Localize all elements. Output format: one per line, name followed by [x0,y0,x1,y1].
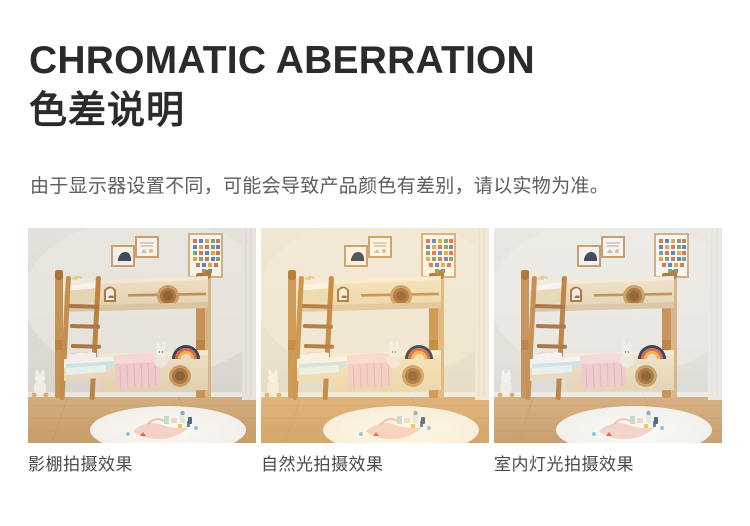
photo-gallery: 影棚拍摄效果 [28,228,722,477]
page-title-chinese: 色差说明 [29,88,729,134]
gallery-item-studio: 影棚拍摄效果 [28,228,256,477]
caption-studio: 影棚拍摄效果 [28,453,256,477]
photo-indoor[interactable] [494,228,722,443]
quote-poster [135,236,159,258]
arched-plaque [570,287,582,303]
quote-poster [368,236,392,258]
bedroom-scene-natural-svg [261,228,489,443]
pink-bed-skirt [347,353,393,389]
rattan-circle-lower [402,365,424,387]
rattan-circle-lower [635,365,657,387]
elephant-poster [577,245,601,267]
rattan-circle-lower [169,365,191,387]
chromatic-aberration-page: CHROMATIC ABERRATION 色差说明 由于显示器设置不同，可能会导… [0,0,750,526]
pink-bed-skirt [114,353,160,389]
gallery-item-indoor: 室内灯光拍摄效果 [494,228,722,477]
bedroom-scene-indoor-svg [494,228,722,443]
elephant-poster [111,245,135,267]
photo-studio[interactable] [28,228,256,443]
disclaimer-text: 由于显示器设置不同，可能会导致产品颜色有差别，请以实物为准。 [30,174,609,200]
gallery-item-natural: 自然光拍摄效果 [261,228,489,477]
page-title-english: CHROMATIC ABERRATION [29,38,729,84]
elephant-poster [344,245,368,267]
quote-poster [601,236,625,258]
arched-plaque [104,287,116,303]
arched-plaque [337,287,349,303]
caption-indoor: 室内灯光拍摄效果 [494,453,722,477]
bedroom-scene-studio-svg [28,228,256,443]
photo-natural[interactable] [261,228,489,443]
pink-bed-skirt [580,353,626,389]
heading-block: CHROMATIC ABERRATION 色差说明 [29,38,729,134]
caption-natural: 自然光拍摄效果 [261,453,489,477]
